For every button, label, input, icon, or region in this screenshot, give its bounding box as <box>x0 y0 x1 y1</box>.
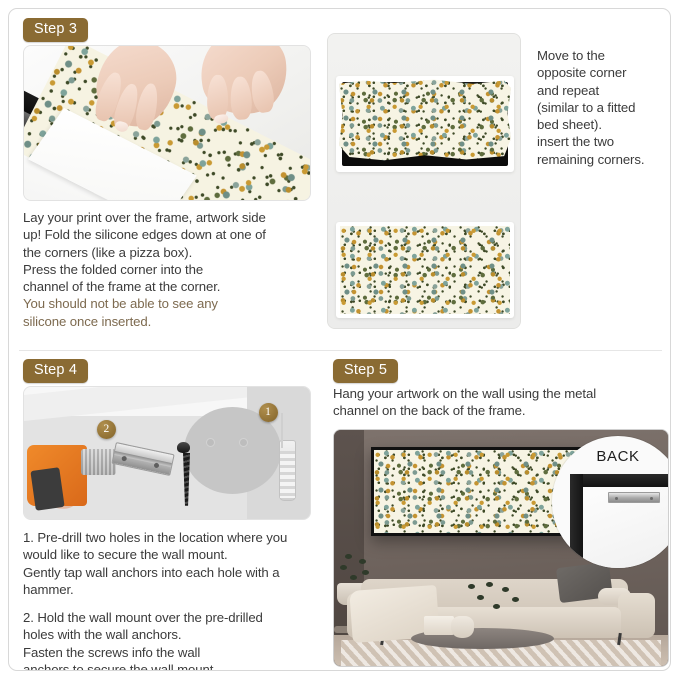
step-5-photo: BACK <box>333 429 669 667</box>
step-3-highlight-line-1: You should not be able to see any <box>23 295 323 312</box>
step-3-highlight: You should not be able to see any silico… <box>23 295 323 330</box>
callout-number-2: 2 <box>97 420 116 439</box>
s4-p2-line-3: Fasten the screws info the wall <box>23 644 317 661</box>
callout-number-1: 1 <box>259 403 278 422</box>
instruction-sheet: Step 3 <box>8 8 671 671</box>
diagram-print-loose <box>336 76 514 172</box>
screw-icon <box>177 442 190 453</box>
callout-label: BACK <box>552 448 669 465</box>
step-3-text: Lay your print over the frame, artwork s… <box>23 209 323 330</box>
side-line-1: Move to the <box>537 47 669 64</box>
step-3-diagram-panel <box>327 33 521 329</box>
pre-drilled-hole-icon <box>206 438 215 447</box>
s4-p1-line-1: 1. Pre-drill two holes in the location w… <box>23 529 317 546</box>
side-line-5: bed sheet). <box>537 116 669 133</box>
step-5-line-1: Hang your artwork on the wall using the … <box>333 385 663 402</box>
wall-anchor-icon <box>279 440 296 501</box>
back-detail-callout: BACK <box>552 436 669 568</box>
step-3-line-3: the corners (like a pizza box). <box>23 244 323 261</box>
step-4-badge: Step 4 <box>23 359 88 383</box>
step-4-photo: 1 2 <box>23 386 311 520</box>
side-line-4: (similar to a fitted <box>537 99 669 116</box>
diagram-print-seated <box>336 222 514 318</box>
step-3-line-5: channel of the frame at the corner. <box>23 278 323 295</box>
step-4-section: Step 4 <box>9 353 319 671</box>
step-3-section: Step 3 <box>9 9 671 349</box>
step-3-line-4: Press the folded corner into the <box>23 261 323 278</box>
s4-p2-line-2: holes with the wall anchors. <box>23 626 317 643</box>
step-4-paragraph-2: 2. Hold the wall mount over the pre-dril… <box>23 609 317 671</box>
section-divider <box>19 350 662 351</box>
side-line-2: opposite corner <box>537 64 669 81</box>
side-line-7: remaining corners. <box>537 151 669 168</box>
branch-decor <box>461 581 534 621</box>
step-5-badge: Step 5 <box>333 359 398 383</box>
s4-p2-line-1: 2. Hold the wall mount over the pre-dril… <box>23 609 317 626</box>
step-3-line-1: Lay your print over the frame, artwork s… <box>23 209 323 226</box>
step-5-text: Hang your artwork on the wall using the … <box>333 385 663 420</box>
s4-p1-line-2: would like to secure the wall mount. <box>23 546 317 563</box>
s4-p2-line-4: anchors to secure the wall mount. <box>23 661 317 671</box>
side-line-6: insert the two <box>537 133 669 150</box>
step-3-side-text: Move to the opposite corner and repeat (… <box>537 47 669 168</box>
pre-drilled-hole-icon <box>239 438 248 447</box>
step-3-badge: Step 3 <box>23 18 88 42</box>
step-3-line-2: up! Fold the silicone edges down at one … <box>23 226 323 243</box>
step-4-paragraph-1: 1. Pre-drill two holes in the location w… <box>23 529 317 598</box>
step-3-highlight-line-2: silicone once inserted. <box>23 313 323 330</box>
side-line-3: and repeat <box>537 82 669 99</box>
step-5-section: Step 5 Hang your artwork on the wall usi… <box>321 353 671 671</box>
step-3-photo <box>23 45 311 201</box>
s4-p1-line-4: hammer. <box>23 581 317 598</box>
step-5-line-2: channel on the back of the frame. <box>333 402 663 419</box>
s4-p1-line-3: Gently tap wall anchors into each hole w… <box>23 564 317 581</box>
step-4-text: 1. Pre-drill two holes in the location w… <box>23 529 317 671</box>
metal-channel-icon <box>608 492 660 503</box>
